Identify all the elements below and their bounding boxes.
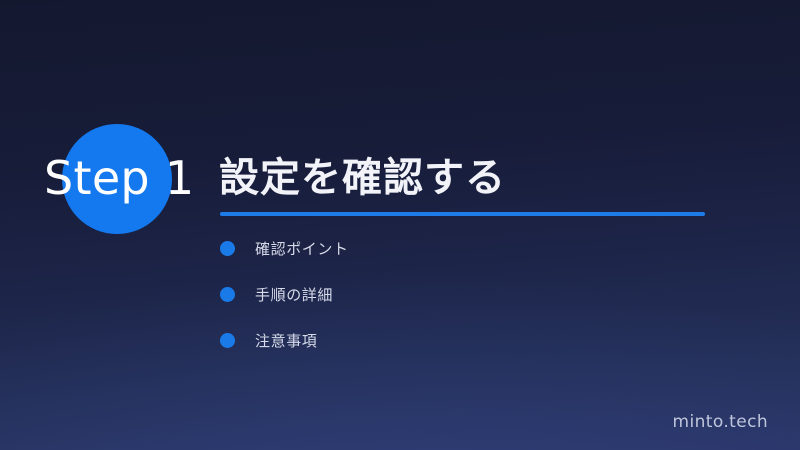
bullet-dot-icon (220, 333, 235, 348)
list-item-label: 注意事項 (255, 330, 317, 351)
bullet-dot-icon (220, 287, 235, 302)
list-item-label: 手順の詳細 (255, 284, 333, 305)
list-item-label: 確認ポイント (255, 238, 349, 259)
step-number-label: Step 1 (44, 148, 204, 208)
list-item: 注意事項 (220, 328, 700, 352)
bullet-dot-icon (220, 241, 235, 256)
list-item: 確認ポイント (220, 236, 700, 260)
title-divider (220, 212, 705, 216)
slide-canvas: Step 1 設定を確認する 確認ポイント 手順の詳細 注意事項 minto.t… (0, 0, 800, 450)
watermark-brand: minto.tech (673, 412, 768, 432)
list-item: 手順の詳細 (220, 282, 700, 306)
bullet-list: 確認ポイント 手順の詳細 注意事項 (220, 236, 700, 374)
slide-title: 設定を確認する (219, 145, 506, 203)
